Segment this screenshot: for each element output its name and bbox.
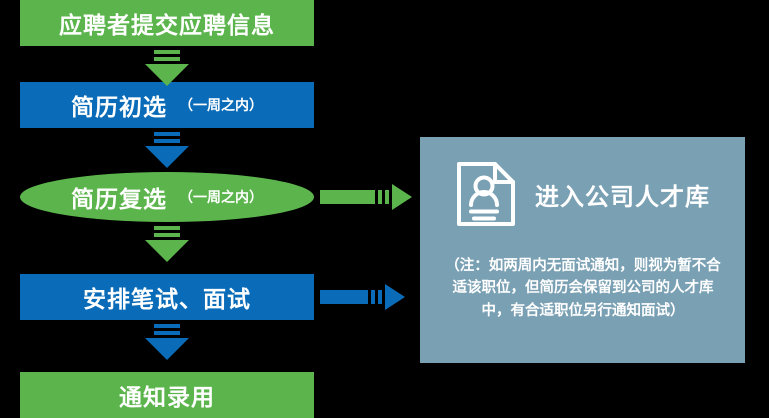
arrow-stripe [378, 290, 382, 304]
flow-node-sublabel: （一周之内） [179, 95, 263, 115]
arrow-stripe [154, 233, 180, 237]
flow-node-label: 简历复选 [71, 180, 167, 214]
arrow-stripe [371, 290, 375, 304]
arrow-head [385, 284, 405, 310]
down-arrow-icon [145, 132, 189, 168]
arrow-head [392, 184, 412, 210]
arrow-head [145, 338, 189, 360]
flow-node-submit-application[interactable]: 应聘者提交应聘信息 [20, 0, 314, 46]
arrow-stripe [154, 132, 180, 136]
down-arrow-icon [145, 324, 189, 360]
arrow-tail [320, 190, 375, 204]
flow-node-label: 简历初选 [71, 88, 167, 122]
flow-node-label: 应聘者提交应聘信息 [59, 6, 275, 40]
flow-node-schedule-test-interview[interactable]: 安排笔试、面试 [20, 274, 314, 320]
talent-pool-title: 进入公司人才库 [535, 177, 710, 212]
flowchart-canvas: 应聘者提交应聘信息 简历初选 （一周之内） 简历复选 （一周之内） 安排笔试、面… [0, 0, 769, 418]
arrow-stripe [378, 190, 382, 204]
talent-pool-header: 进入公司人才库 [420, 151, 745, 237]
arrow-head [145, 146, 189, 168]
arrow-stripe [154, 139, 180, 143]
arrow-tail [320, 290, 368, 304]
down-arrow-icon [145, 50, 189, 86]
arrow-stripe [385, 190, 389, 204]
arrow-stripe [154, 331, 180, 335]
flow-node-label: 通知录用 [119, 378, 215, 412]
flow-node-label: 安排笔试、面试 [83, 280, 251, 314]
flow-node-resume-second-screening[interactable]: 简历复选 （一周之内） [20, 172, 314, 222]
arrow-stripe [154, 57, 180, 61]
arrow-head [145, 64, 189, 86]
talent-pool-panel[interactable]: 进入公司人才库 （注：如两周内无面试通知，则视为暂不合适该职位，但简历会保留到公… [420, 137, 745, 363]
arrow-stripe [154, 50, 180, 54]
right-arrow-icon [320, 184, 412, 210]
arrow-head [145, 240, 189, 262]
right-arrow-icon [320, 284, 405, 310]
flow-node-offer-notification[interactable]: 通知录用 [20, 372, 314, 418]
talent-pool-note: （注：如两周内无面试通知，则视为暂不合适该职位，但简历会保留到公司的人才库中，有… [442, 255, 724, 322]
resume-person-document-icon [455, 160, 517, 228]
flow-node-resume-first-screening[interactable]: 简历初选 （一周之内） [20, 82, 314, 128]
arrow-stripe [154, 226, 180, 230]
flow-node-sublabel: （一周之内） [179, 187, 263, 207]
arrow-stripe [154, 324, 180, 328]
down-arrow-icon [145, 226, 189, 262]
